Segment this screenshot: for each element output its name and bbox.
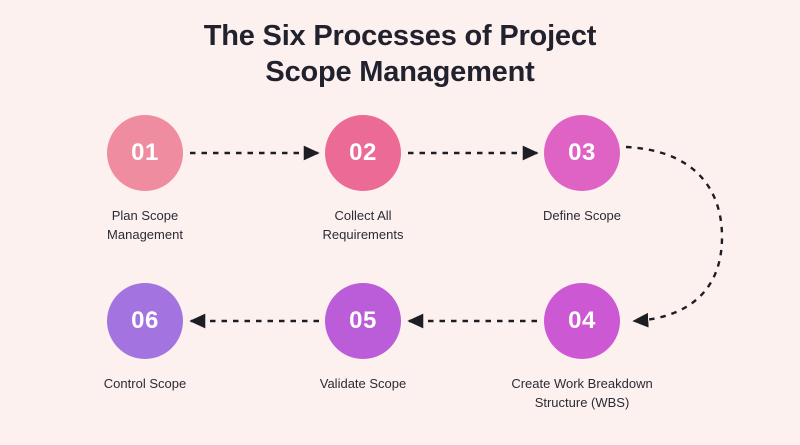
process-circle-01[interactable]: 01 bbox=[107, 115, 183, 191]
process-number-01: 01 bbox=[131, 141, 159, 165]
process-node-06[interactable]: 06 Control Scope bbox=[65, 283, 225, 393]
process-label-05: Validate Scope bbox=[283, 374, 443, 393]
process-label-04: Create Work Breakdown Structure (WBS) bbox=[467, 374, 697, 412]
infographic-canvas: The Six Processes of Project Scope Manag… bbox=[0, 0, 800, 445]
process-circle-03[interactable]: 03 bbox=[544, 115, 620, 191]
process-circle-02[interactable]: 02 bbox=[325, 115, 401, 191]
process-number-06: 06 bbox=[131, 309, 159, 333]
process-label-03: Define Scope bbox=[502, 206, 662, 225]
process-number-04: 04 bbox=[568, 309, 596, 333]
process-node-01[interactable]: 01 Plan Scope Management bbox=[65, 115, 225, 244]
process-number-05: 05 bbox=[349, 309, 377, 333]
process-node-05[interactable]: 05 Validate Scope bbox=[283, 283, 443, 393]
process-label-06: Control Scope bbox=[65, 374, 225, 393]
page-title: The Six Processes of Project Scope Manag… bbox=[0, 18, 800, 90]
process-label-02: Collect All Requirements bbox=[283, 206, 443, 244]
process-number-02: 02 bbox=[349, 141, 377, 165]
process-node-04[interactable]: 04 Create Work Breakdown Structure (WBS) bbox=[502, 283, 662, 412]
page-title-line-2: Scope Management bbox=[0, 54, 800, 90]
process-node-03[interactable]: 03 Define Scope bbox=[502, 115, 662, 225]
process-node-02[interactable]: 02 Collect All Requirements bbox=[283, 115, 443, 244]
page-title-line-1: The Six Processes of Project bbox=[0, 18, 800, 54]
process-label-01: Plan Scope Management bbox=[65, 206, 225, 244]
process-circle-06[interactable]: 06 bbox=[107, 283, 183, 359]
process-circle-04[interactable]: 04 bbox=[544, 283, 620, 359]
process-circle-05[interactable]: 05 bbox=[325, 283, 401, 359]
process-number-03: 03 bbox=[568, 141, 596, 165]
